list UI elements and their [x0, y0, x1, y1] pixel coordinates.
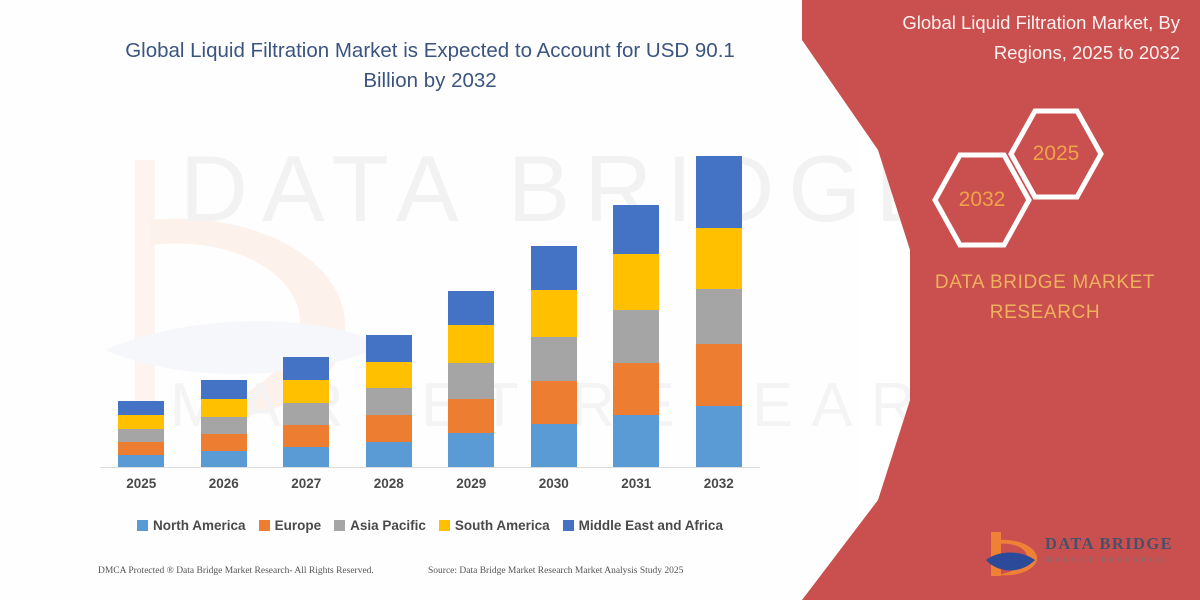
x-axis-tick-label: 2027 [266, 476, 346, 491]
bar-segment[interactable] [118, 442, 164, 455]
bar-segment[interactable] [696, 156, 742, 228]
bar-segment[interactable] [613, 363, 659, 415]
footer-dmca-text: DMCA Protected ® Data Bridge Market Rese… [98, 566, 374, 576]
bar-segment[interactable] [696, 289, 742, 344]
bar-segment[interactable] [531, 424, 577, 468]
bar-segment[interactable] [201, 434, 247, 451]
infographic-page: DATA BRIDGE MARKET RESEARCH Global Liqui… [0, 0, 1200, 600]
stacked-bar[interactable] [613, 205, 659, 468]
brand-name-text: DATA BRIDGE MARKET RESEARCH [900, 268, 1190, 328]
bar-segment[interactable] [531, 246, 577, 290]
footer-source-text: Source: Data Bridge Market Research Mark… [428, 566, 683, 576]
bar-segment[interactable] [613, 310, 659, 363]
bar-segment[interactable] [448, 363, 494, 399]
x-axis-tick-label: 2031 [596, 476, 676, 491]
bar-segment[interactable] [448, 433, 494, 468]
bar-segment[interactable] [696, 406, 742, 468]
legend-item[interactable]: South America [439, 518, 550, 533]
legend-swatch-icon [137, 520, 148, 531]
bar-segment[interactable] [201, 451, 247, 468]
legend-label: South America [455, 518, 550, 533]
bar-segment[interactable] [448, 291, 494, 325]
legend-label: Europe [275, 518, 322, 533]
legend-item[interactable]: Asia Pacific [334, 518, 426, 533]
logo-subtitle: MARKET RESEARCH [1045, 555, 1167, 564]
chart-panel: DATA BRIDGE MARKET RESEARCH Global Liqui… [0, 0, 860, 600]
bar-segment[interactable] [448, 399, 494, 433]
x-axis-tick-label: 2028 [349, 476, 429, 491]
footer: DMCA Protected ® Data Bridge Market Rese… [0, 566, 860, 588]
legend-label: Asia Pacific [350, 518, 426, 533]
stacked-bar[interactable] [118, 401, 164, 468]
stacked-bar[interactable] [201, 380, 247, 468]
bar-segment[interactable] [201, 399, 247, 417]
bar-chart-plot [100, 130, 760, 468]
legend-swatch-icon [334, 520, 345, 531]
hexagon-2025-label: 2025 [1033, 142, 1080, 166]
legend-label: North America [153, 518, 246, 533]
bar-segment[interactable] [366, 362, 412, 388]
bar-segment[interactable] [531, 337, 577, 381]
legend-item[interactable]: North America [137, 518, 246, 533]
bar-segment[interactable] [118, 401, 164, 415]
bar-segment[interactable] [201, 380, 247, 399]
bar-segment[interactable] [366, 335, 412, 362]
legend-label: Middle East and Africa [579, 518, 723, 533]
bar-segment[interactable] [696, 228, 742, 289]
stacked-bar[interactable] [531, 246, 577, 468]
right-panel-title: Global Liquid Filtration Market, By Regi… [860, 8, 1180, 68]
bar-segment[interactable] [696, 344, 742, 406]
legend-item[interactable]: Middle East and Africa [563, 518, 723, 533]
data-bridge-logo: DATA BRIDGE MARKET RESEARCH [985, 528, 1185, 584]
x-axis-tick-label: 2029 [431, 476, 511, 491]
bar-segment[interactable] [366, 442, 412, 468]
bar-segment[interactable] [531, 381, 577, 424]
x-axis-tick-label: 2026 [184, 476, 264, 491]
bar-segment[interactable] [366, 388, 412, 415]
legend-item[interactable]: Europe [259, 518, 322, 533]
stacked-bar[interactable] [366, 335, 412, 468]
bar-segment[interactable] [283, 380, 329, 403]
legend-swatch-icon [439, 520, 450, 531]
stacked-bar[interactable] [696, 156, 742, 468]
bar-segment[interactable] [613, 415, 659, 468]
legend-swatch-icon [259, 520, 270, 531]
x-axis-tick-label: 2025 [101, 476, 181, 491]
bar-segment[interactable] [613, 205, 659, 254]
bar-segment[interactable] [366, 415, 412, 442]
bar-segment[interactable] [613, 254, 659, 310]
legend-swatch-icon [563, 520, 574, 531]
hexagon-badge-2025: 2025 [1006, 106, 1106, 202]
bar-segment[interactable] [531, 290, 577, 337]
x-axis-tick-label: 2030 [514, 476, 594, 491]
bar-segment[interactable] [283, 357, 329, 380]
data-bridge-mark-icon [985, 530, 1041, 582]
hexagon-2032-label: 2032 [959, 188, 1006, 212]
chart-title: Global Liquid Filtration Market is Expec… [110, 36, 750, 96]
stacked-bar[interactable] [448, 291, 494, 468]
bar-segment[interactable] [201, 417, 247, 434]
x-axis-labels: 20252026202720282029203020312032 [100, 476, 760, 500]
bar-segment[interactable] [118, 415, 164, 429]
chart-legend: North AmericaEuropeAsia PacificSouth Ame… [100, 514, 760, 536]
bar-segment[interactable] [283, 447, 329, 468]
bar-segment[interactable] [118, 429, 164, 442]
x-axis-tick-label: 2032 [679, 476, 759, 491]
bar-segment[interactable] [448, 325, 494, 363]
stacked-bar[interactable] [283, 357, 329, 468]
logo-title: DATA BRIDGE [1045, 534, 1173, 554]
bar-segment[interactable] [283, 403, 329, 425]
x-axis-line [100, 467, 760, 468]
bar-segment[interactable] [283, 425, 329, 447]
